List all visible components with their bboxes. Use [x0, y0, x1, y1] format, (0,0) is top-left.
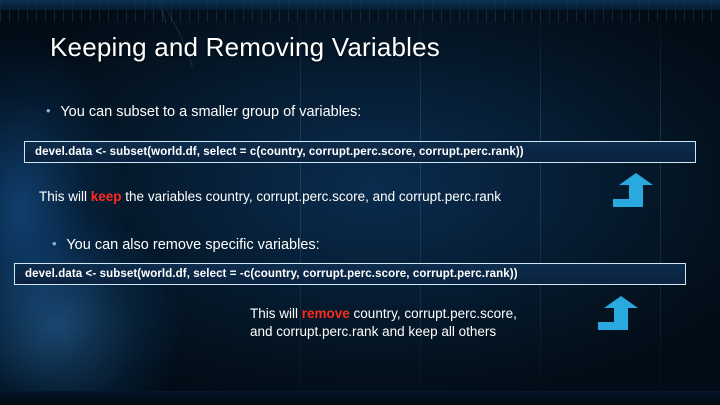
slide-title: Keeping and Removing Variables	[50, 32, 440, 63]
arrow-up-elbow-icon	[598, 296, 644, 330]
note-2-prefix: This will	[250, 306, 302, 321]
note-1-suffix: the variables country, corrupt.perc.scor…	[122, 189, 501, 204]
arrow-up-elbow-icon	[613, 173, 659, 207]
bullet-marker-icon: •	[52, 236, 57, 251]
note-1-keyword: keep	[91, 189, 122, 204]
code-block-2: devel.data <- subset(world.df, select = …	[14, 263, 686, 285]
note-1: This will keep the variables country, co…	[39, 188, 501, 206]
slide: Keeping and Removing Variables • You can…	[0, 0, 720, 405]
bullet-label-1: You can subset to a smaller group of var…	[60, 104, 361, 120]
note-2: This will remove country, corrupt.perc.s…	[250, 305, 580, 341]
code-block-1: devel.data <- subset(world.df, select = …	[24, 141, 696, 163]
bullet-item-2: • You can also remove specific variables…	[52, 237, 320, 253]
slide-content: Keeping and Removing Variables • You can…	[0, 0, 720, 405]
note-2-keyword: remove	[302, 306, 350, 321]
bullet-item-1: • You can subset to a smaller group of v…	[46, 104, 361, 120]
bullet-marker-icon: •	[46, 103, 51, 118]
bullet-label-2: You can also remove specific variables:	[66, 237, 319, 253]
note-1-prefix: This will	[39, 189, 91, 204]
note-2-line2: and corrupt.perc.rank and keep all other…	[250, 324, 496, 339]
note-2-suffix: country, corrupt.perc.score,	[350, 306, 517, 321]
